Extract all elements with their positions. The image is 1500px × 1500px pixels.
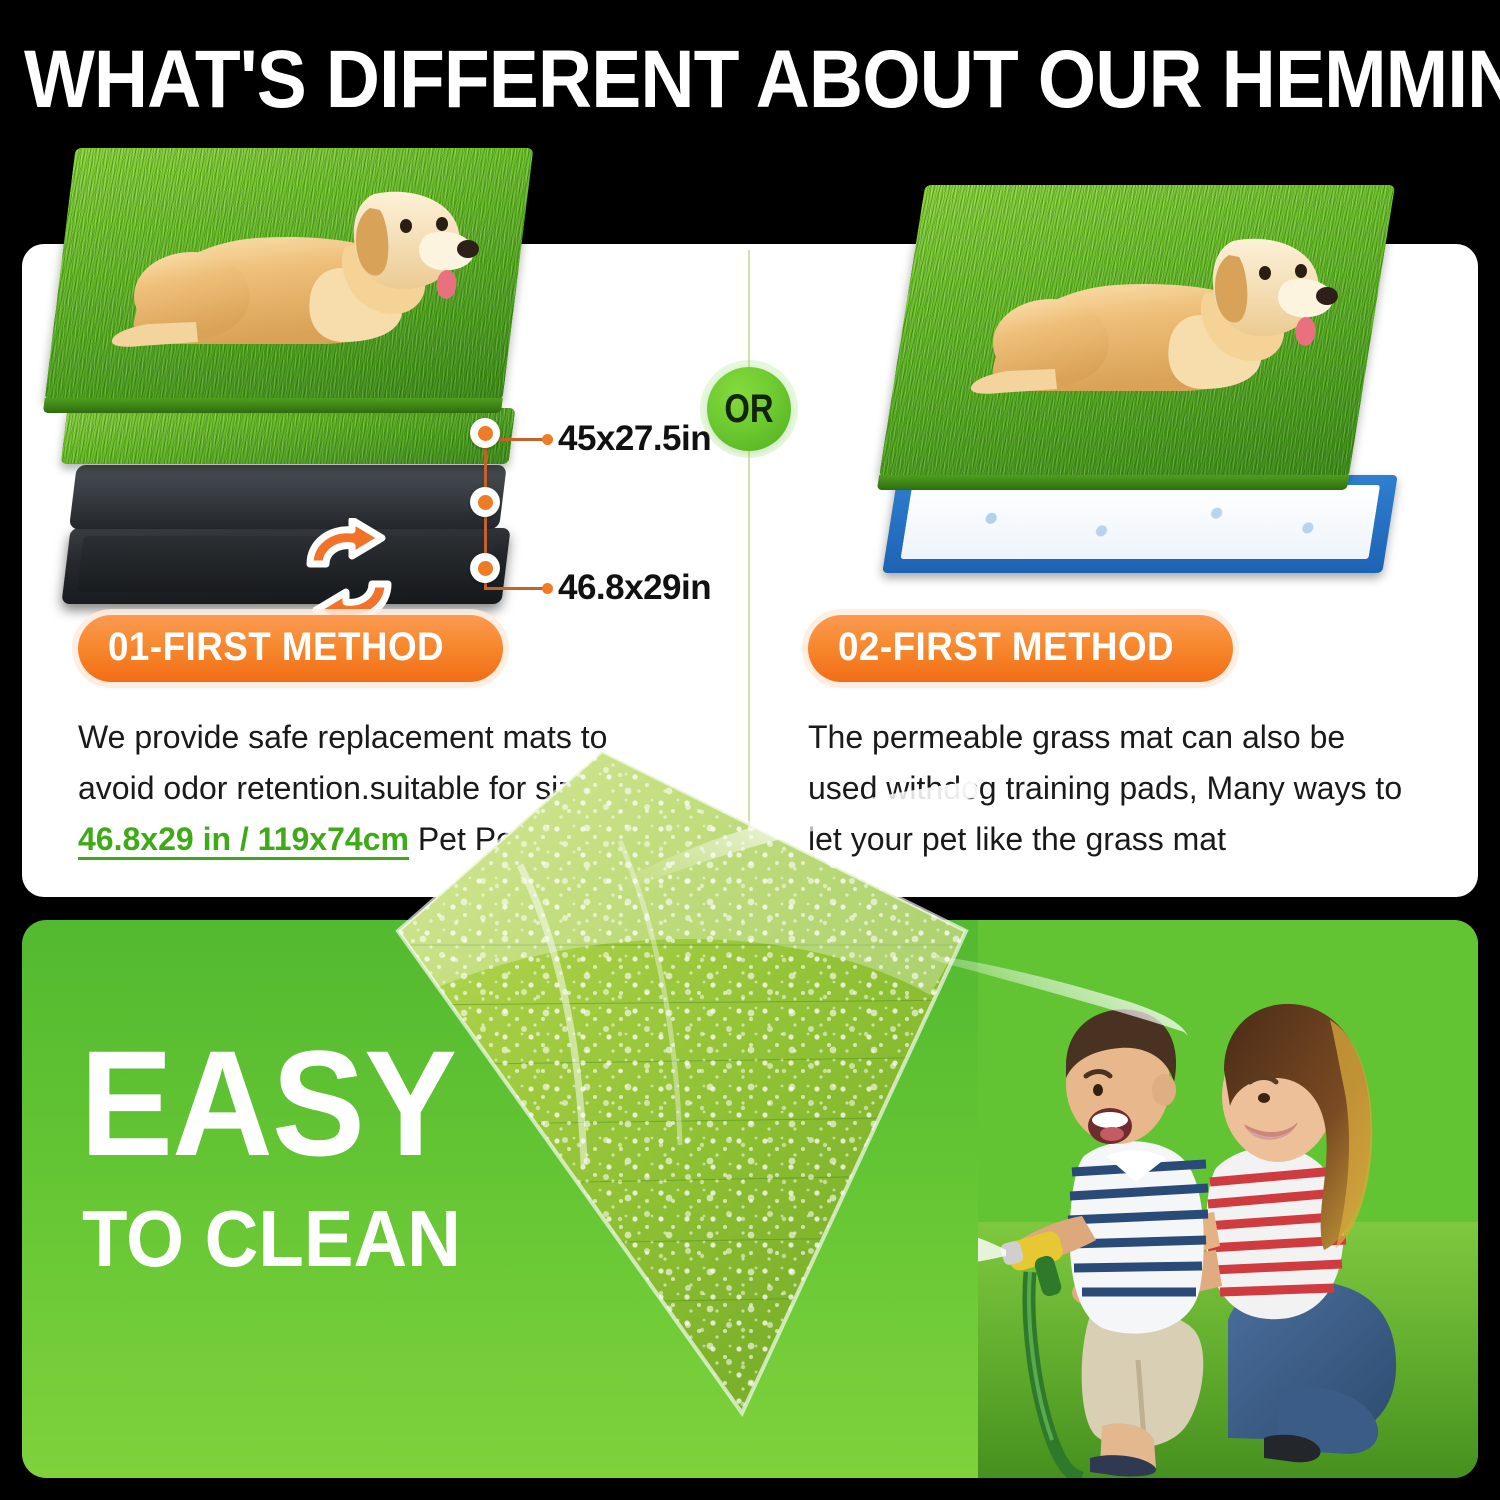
pad-rim xyxy=(69,465,507,529)
page-title: WHAT'S DIFFERENT ABOUT OUR HEMMING GRASS… xyxy=(24,36,1360,124)
grass-layer-top xyxy=(45,148,534,400)
callout-label-tray: 46.8x29in xyxy=(558,568,711,608)
callout-dot-grass-mid xyxy=(470,487,500,517)
training-pad-surface xyxy=(900,485,1380,559)
product-stack-replacement xyxy=(58,140,558,610)
or-badge: OR xyxy=(707,367,791,451)
method-2-badge-label: 02-FIRST METHOD xyxy=(838,625,1174,669)
method-1-badge: 01-FIRST METHOD xyxy=(78,615,503,682)
method-1-size-highlight: 46.8x29 in / 119x74cm xyxy=(78,821,409,860)
wet-grass-mat xyxy=(370,745,990,1425)
family-hose-photo xyxy=(978,920,1478,1478)
replacement-pad-layer xyxy=(75,470,501,522)
tray-inner xyxy=(77,536,496,592)
or-badge-label: OR xyxy=(724,387,773,432)
product-stack-training-pad xyxy=(880,175,1440,595)
callout-label-grass: 45x27.5in xyxy=(558,419,711,459)
callout-dot-grass-top xyxy=(470,418,500,448)
tray-layer xyxy=(61,528,510,604)
method-2-badge: 02-FIRST METHOD xyxy=(808,615,1233,682)
method-1-badge-label: 01-FIRST METHOD xyxy=(108,625,444,669)
grass-edge xyxy=(43,398,503,413)
callout-branch-2 xyxy=(484,587,548,590)
grass-layer-spare xyxy=(61,408,516,464)
callout-endpoint-1 xyxy=(542,434,553,445)
swap-arrows-icon xyxy=(290,518,408,630)
callout-endpoint-2 xyxy=(542,583,553,594)
infographic-root: WHAT'S DIFFERENT ABOUT OUR HEMMING GRASS… xyxy=(0,0,1500,1500)
grass-mat-edge xyxy=(877,475,1349,490)
grass-mat-permeable xyxy=(879,185,1395,477)
callout-dot-tray xyxy=(470,553,500,583)
